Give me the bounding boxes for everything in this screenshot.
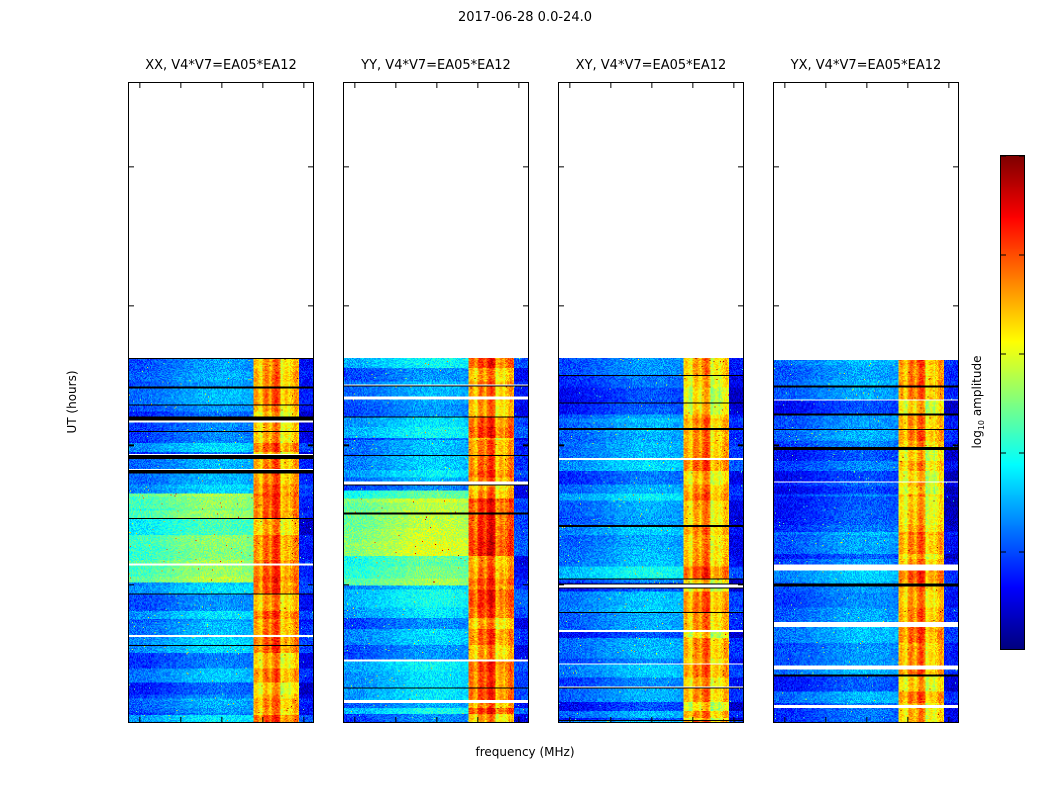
y-tick-mark <box>953 445 958 446</box>
x-tick-label: 320 <box>558 722 582 723</box>
y-tick-mark <box>308 445 313 446</box>
colorbar: 10-1-2-3-4 <box>1000 155 1025 650</box>
heatmap-yy <box>344 358 528 722</box>
x-tick-mark <box>180 83 181 88</box>
panel-yy: YY, V4*V7=EA05*EA12 05101520320335350365… <box>343 82 529 723</box>
x-axis-label: frequency (MHz) <box>0 745 1050 759</box>
y-tick-mark <box>953 166 958 167</box>
x-tick-mark <box>436 83 437 88</box>
x-tick-mark <box>569 717 570 722</box>
x-tick-mark <box>518 83 519 88</box>
x-tick-mark <box>569 83 570 88</box>
x-tick-label: 350 <box>855 722 880 723</box>
x-tick-label: 335 <box>384 722 409 723</box>
colorbar-tick-mark <box>1019 552 1024 553</box>
x-tick-mark <box>139 83 140 88</box>
y-tick-label: 0 <box>558 717 559 724</box>
heatmap-yx <box>774 358 958 722</box>
y-tick-mark <box>953 305 958 306</box>
y-tick-mark <box>129 305 134 306</box>
y-tick-mark <box>738 445 743 446</box>
x-tick-mark <box>866 717 867 722</box>
panel-axes-xy: 05101520320335350365380 <box>558 82 744 723</box>
colorbar-tick-mark <box>1019 255 1024 256</box>
x-tick-label: 365 <box>681 722 706 723</box>
x-tick-mark <box>477 83 478 88</box>
y-tick-label: 0 <box>343 717 344 724</box>
colorbar-tick-mark <box>1001 156 1006 157</box>
y-tick-mark <box>738 305 743 306</box>
x-tick-label: 380 <box>507 722 529 723</box>
x-tick-mark <box>354 717 355 722</box>
x-tick-mark <box>395 717 396 722</box>
x-tick-mark <box>907 717 908 722</box>
y-axis-label: UT (hours) <box>65 370 79 433</box>
x-tick-mark <box>354 83 355 88</box>
x-tick-label: 365 <box>466 722 491 723</box>
y-tick-mark <box>774 305 779 306</box>
x-tick-mark <box>651 83 652 88</box>
panel-axes-xx: 05101520320335350365380 <box>128 82 314 723</box>
x-tick-mark <box>262 83 263 88</box>
panel-xx: XX, V4*V7=EA05*EA12 05101520320335350365… <box>128 82 314 723</box>
colorbar-tick-mark <box>1001 552 1006 553</box>
y-tick-mark <box>738 166 743 167</box>
y-tick-mark <box>344 305 349 306</box>
y-tick-mark <box>308 584 313 585</box>
colorbar-tick-mark <box>1001 255 1006 256</box>
y-tick-mark <box>523 166 528 167</box>
panel-xy: XY, V4*V7=EA05*EA12 05101520320335350365… <box>558 82 744 723</box>
x-tick-label: 335 <box>814 722 839 723</box>
x-tick-mark <box>610 83 611 88</box>
y-tick-mark <box>774 166 779 167</box>
y-tick-mark <box>774 445 779 446</box>
y-tick-mark <box>559 584 564 585</box>
x-tick-mark <box>733 717 734 722</box>
y-tick-mark <box>308 166 313 167</box>
x-tick-label: 380 <box>292 722 314 723</box>
x-tick-mark <box>139 717 140 722</box>
colorbar-tick-mark <box>1019 156 1024 157</box>
panel-axes-yx: 05101520320335350365380 <box>773 82 959 723</box>
x-tick-mark <box>692 83 693 88</box>
x-tick-mark <box>784 83 785 88</box>
x-tick-mark <box>303 83 304 88</box>
y-tick-mark <box>738 584 743 585</box>
x-tick-mark <box>395 83 396 88</box>
x-tick-label: 350 <box>210 722 235 723</box>
x-tick-mark <box>518 717 519 722</box>
y-tick-mark <box>523 445 528 446</box>
colorbar-tick-label: -4 <box>1000 644 1001 651</box>
x-tick-label: 320 <box>343 722 367 723</box>
x-tick-mark <box>303 717 304 722</box>
x-tick-label: 365 <box>896 722 921 723</box>
panel-axes-yy: 05101520320335350365380 <box>343 82 529 723</box>
y-tick-mark <box>129 445 134 446</box>
x-tick-mark <box>477 717 478 722</box>
colorbar-label: log10 amplitude <box>970 356 986 449</box>
x-tick-mark <box>610 717 611 722</box>
x-tick-label: 365 <box>251 722 276 723</box>
x-tick-label: 335 <box>169 722 194 723</box>
y-tick-mark <box>129 166 134 167</box>
x-tick-mark <box>948 717 949 722</box>
y-tick-mark <box>308 305 313 306</box>
x-tick-label: 380 <box>722 722 744 723</box>
y-tick-mark <box>523 584 528 585</box>
y-tick-mark <box>953 584 958 585</box>
x-tick-label: 320 <box>773 722 797 723</box>
x-tick-mark <box>733 83 734 88</box>
colorbar-tick-mark <box>1019 453 1024 454</box>
x-tick-mark <box>866 83 867 88</box>
figure-suptitle: 2017-06-28 0.0-24.0 <box>0 10 1050 25</box>
y-tick-mark <box>344 166 349 167</box>
y-tick-mark <box>774 584 779 585</box>
x-tick-mark <box>948 83 949 88</box>
x-tick-label: 335 <box>599 722 624 723</box>
y-tick-mark <box>559 166 564 167</box>
x-tick-mark <box>784 717 785 722</box>
colorbar-tick-mark <box>1001 453 1006 454</box>
y-tick-mark <box>559 445 564 446</box>
y-tick-mark <box>344 584 349 585</box>
x-tick-mark <box>692 717 693 722</box>
x-tick-mark <box>651 717 652 722</box>
x-tick-mark <box>907 83 908 88</box>
x-tick-mark <box>825 717 826 722</box>
heatmap-xx <box>129 358 313 722</box>
x-tick-label: 350 <box>425 722 450 723</box>
x-tick-mark <box>436 717 437 722</box>
heatmap-xy <box>559 358 743 722</box>
y-tick-mark <box>523 305 528 306</box>
x-tick-label: 320 <box>128 722 152 723</box>
x-tick-mark <box>221 83 222 88</box>
x-tick-mark <box>825 83 826 88</box>
y-tick-label: 0 <box>128 717 129 724</box>
colorbar-tick-mark <box>1019 354 1024 355</box>
spectrum-figure: 2017-06-28 0.0-24.0 UT (hours) frequency… <box>0 0 1050 800</box>
x-tick-label: 380 <box>937 722 959 723</box>
panel-title-yx: YX, V4*V7=EA05*EA12 <box>733 58 999 73</box>
y-tick-label: 0 <box>773 717 774 724</box>
y-tick-mark <box>344 445 349 446</box>
x-tick-mark <box>180 717 181 722</box>
x-tick-mark <box>262 717 263 722</box>
x-tick-label: 350 <box>640 722 665 723</box>
y-tick-mark <box>559 305 564 306</box>
x-tick-mark <box>221 717 222 722</box>
panel-yx: YX, V4*V7=EA05*EA12 05101520320335350365… <box>773 82 959 723</box>
y-tick-mark <box>129 584 134 585</box>
colorbar-tick-mark <box>1001 354 1006 355</box>
